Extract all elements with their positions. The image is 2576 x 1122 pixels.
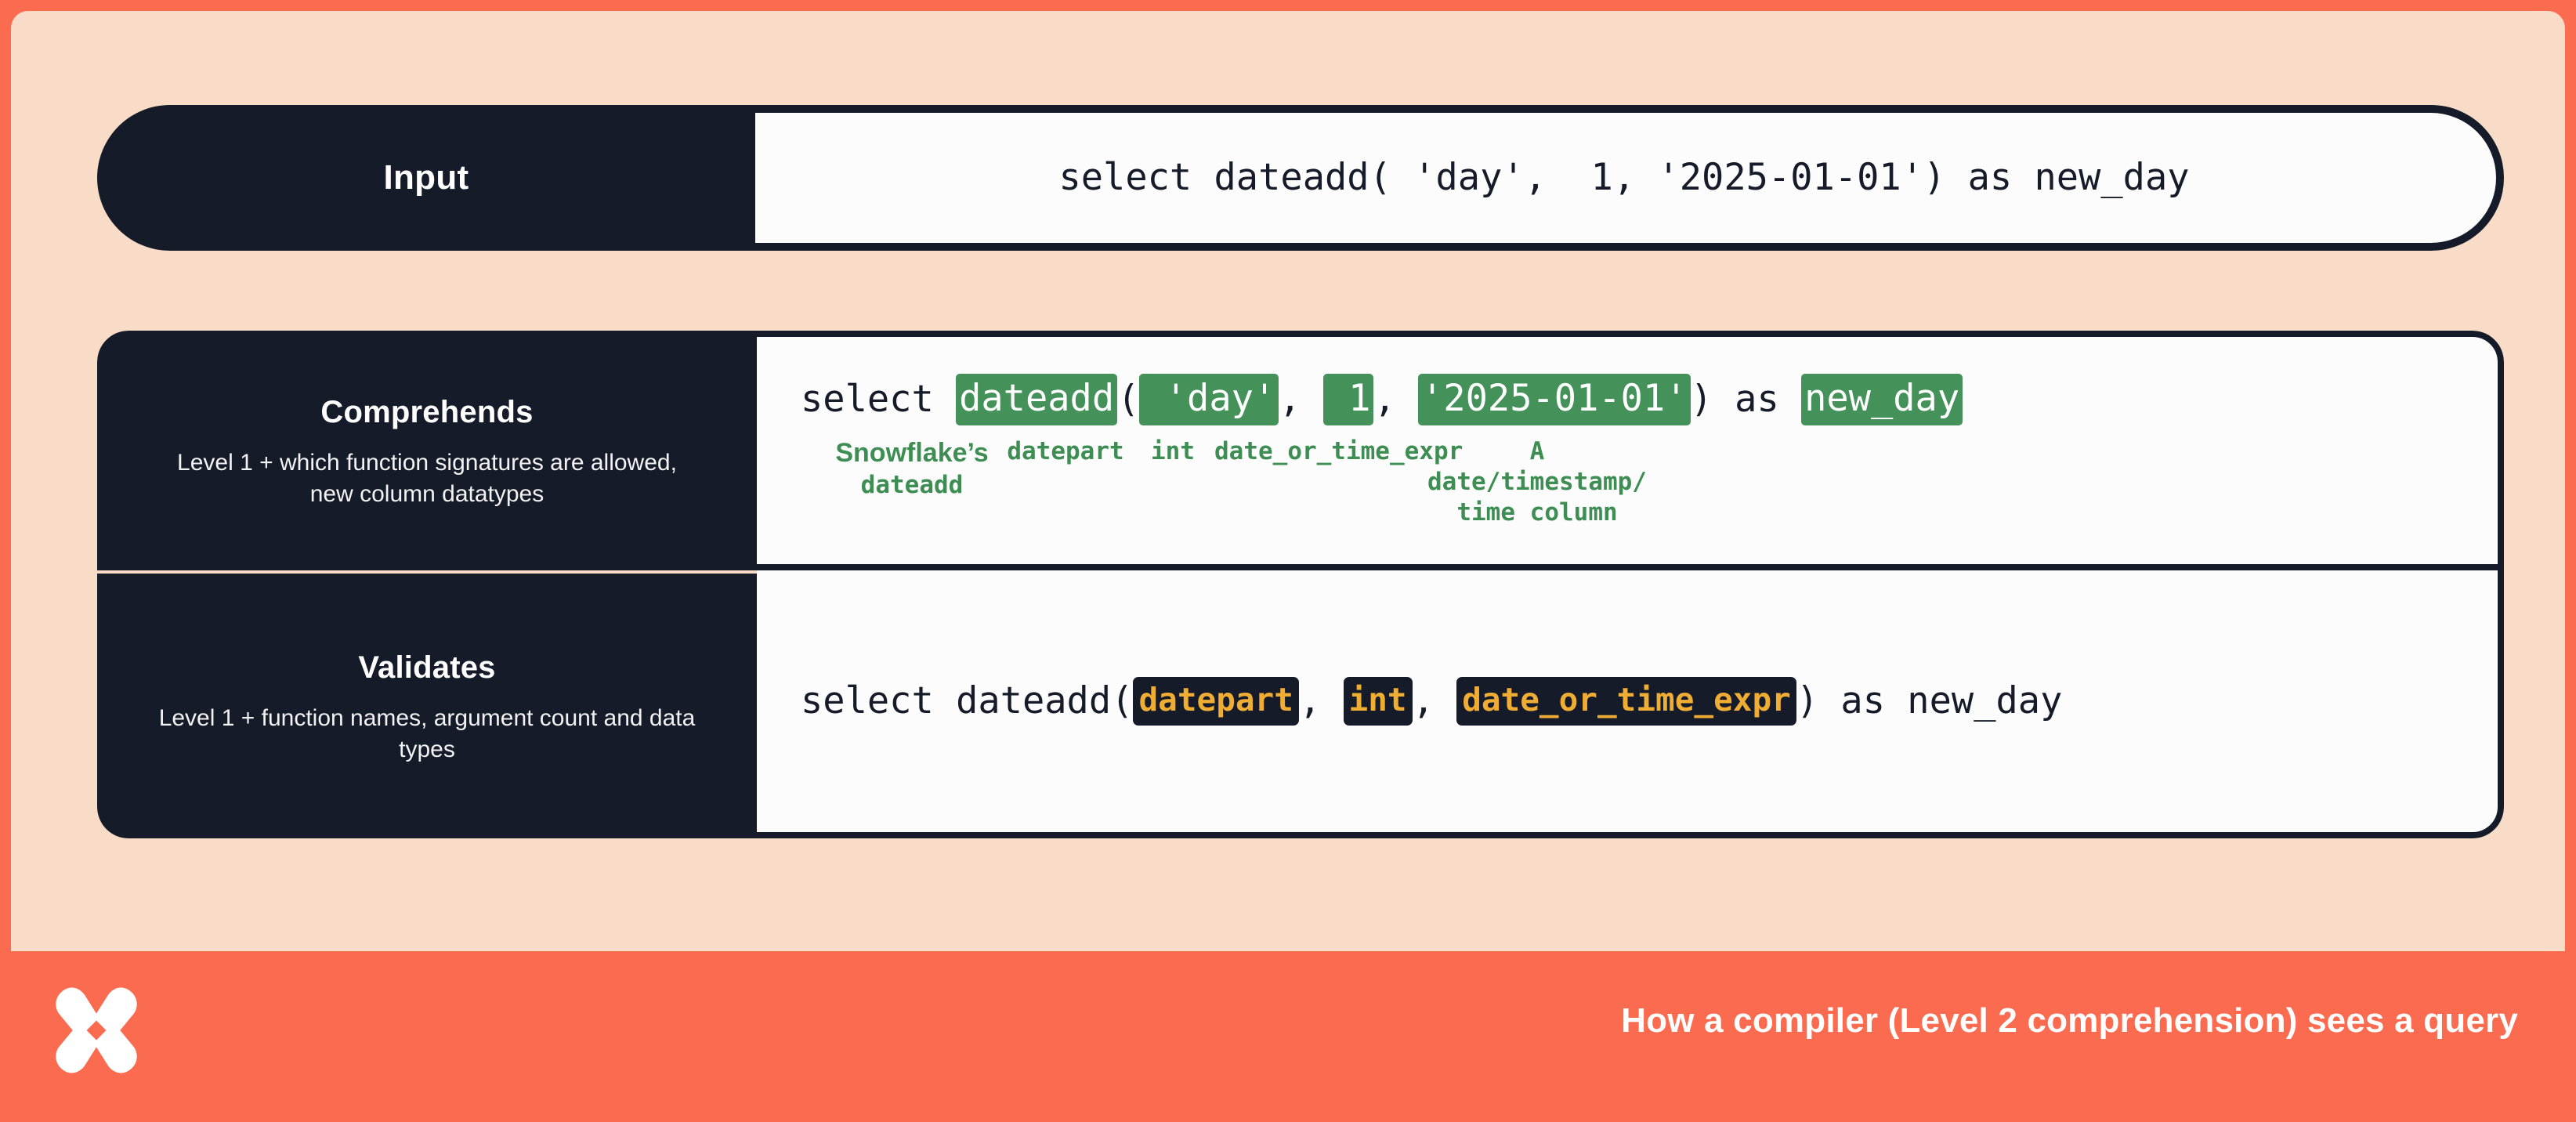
code-token-plain: , — [1279, 379, 1323, 420]
validates-code-row: select dateadd(datepart, int, date_or_ti… — [757, 570, 2498, 832]
code-token-plain: , — [1373, 379, 1418, 420]
four-pointed-star-logo — [47, 981, 146, 1084]
footer-bar: How a compiler (Level 2 comprehension) s… — [11, 951, 2565, 1111]
code-token-plain: ( — [1117, 379, 1139, 420]
code-annotation-label: datepart — [995, 436, 1136, 527]
code-token-plain: , — [1413, 681, 1457, 722]
code-token-plain: ) as — [1691, 379, 1801, 420]
row-label-title: Comprehends — [320, 395, 533, 430]
row-label-title: Validates — [358, 650, 495, 686]
card-label-column: Comprehends Level 1 + which function sig… — [97, 331, 757, 838]
code-token-highlighted: dateadd — [956, 374, 1117, 426]
row-label-comprehends: Comprehends Level 1 + which function sig… — [97, 331, 757, 570]
code-annotation-label: Snowflake’sdateadd — [834, 436, 990, 527]
input-row-label: Input — [97, 105, 755, 251]
content-canvas: Input select dateadd( 'day', 1, '2025-01… — [11, 11, 2565, 951]
infographic-frame: Input select dateadd( 'day', 1, '2025-01… — [0, 0, 2576, 1122]
code-token-placeholder-chip: datepart — [1133, 677, 1298, 725]
code-annotation-label: int — [1130, 436, 1216, 527]
code-token-highlighted: new_day — [1801, 374, 1963, 426]
card-code-column: select dateadd( 'day', 1, '2025-01-01') … — [757, 331, 2504, 838]
code-token-plain: ) as new_day — [1796, 681, 2063, 722]
comprehends-annotations: Snowflake’sdateadddatepartintdate_or_tim… — [801, 436, 2498, 527]
code-token-plain: select — [801, 379, 956, 420]
code-token-placeholder-chip: int — [1344, 677, 1413, 725]
code-token-highlighted: 'day' — [1139, 374, 1279, 426]
code-annotation-label: date_or_time_expr — [1214, 436, 1426, 527]
code-token-plain: select dateadd( — [801, 681, 1133, 722]
code-annotation-label: A date/timestamp/ time column — [1420, 436, 1655, 527]
row-label-sublabel: Level 1 + which function signatures are … — [153, 447, 701, 510]
input-code-text: select dateadd( 'day', 1, '2025-01-01') … — [1058, 157, 2189, 198]
validates-code-line: select dateadd(datepart, int, date_or_ti… — [801, 677, 2062, 725]
code-token-highlighted: '2025-01-01' — [1418, 374, 1691, 426]
input-row-code-panel: select dateadd( 'day', 1, '2025-01-01') … — [752, 105, 2504, 251]
code-token-plain: , — [1299, 681, 1344, 722]
footer-caption: How a compiler (Level 2 comprehension) s… — [1621, 1001, 2518, 1041]
row-label-validates: Validates Level 1 + function names, argu… — [97, 574, 757, 838]
code-token-highlighted: 1 — [1323, 374, 1374, 426]
code-token-placeholder-chip: date_or_time_expr — [1456, 677, 1796, 725]
row-label-sublabel: Level 1 + function names, argument count… — [153, 703, 701, 765]
comprehension-card: Comprehends Level 1 + which function sig… — [97, 331, 2504, 838]
input-label-text: Input — [383, 158, 469, 197]
input-row: Input select dateadd( 'day', 1, '2025-01… — [97, 105, 2504, 251]
comprehends-code-line: select dateadd( 'day', 1, '2025-01-01') … — [801, 374, 2498, 426]
comprehends-code-row: select dateadd( 'day', 1, '2025-01-01') … — [757, 337, 2498, 570]
